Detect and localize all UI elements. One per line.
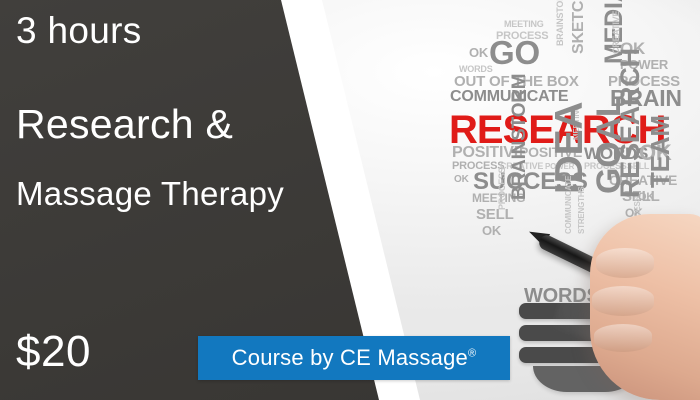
- wordcloud-word: OK: [482, 224, 501, 237]
- course-promo-card: MEETINGPROCESSSKETCHBRAINSTORMMEDIACREAT…: [0, 0, 700, 400]
- provider-banner-label: Course by CE Massage®: [232, 347, 477, 369]
- course-price: $20: [16, 330, 91, 374]
- course-duration: 3 hours: [16, 12, 142, 49]
- wordcloud-word: MEETING: [504, 20, 544, 29]
- wordcloud-word: OK: [469, 46, 488, 59]
- wordcloud-word: STRENGTHS: [578, 186, 586, 234]
- wordcloud-word: OK: [454, 175, 469, 185]
- registered-trademark-icon: ®: [468, 348, 476, 360]
- wordcloud-word: BRAINSTORM: [556, 0, 565, 46]
- wordcloud-word: SELL: [476, 207, 514, 222]
- course-title-line-1: Research &: [16, 104, 233, 145]
- hand-holding-pen-icon: [590, 214, 700, 400]
- wordcloud-word: BRAINSTORM: [510, 74, 529, 200]
- provider-banner-text: Course by CE Massage: [232, 345, 468, 370]
- wordcloud-word: COMMUNICATE: [565, 176, 573, 234]
- wordcloud-word: SKETCH: [571, 0, 587, 54]
- wordcloud-word: OK: [638, 192, 654, 203]
- wordcloud-word: RESEARCH: [617, 48, 644, 198]
- provider-banner[interactable]: Course by CE Massage®: [198, 336, 510, 380]
- wordcloud-word: TEAM: [647, 115, 673, 188]
- wordcloud-word: PROCESS: [498, 167, 507, 210]
- wordcloud-word: GO: [489, 36, 540, 69]
- course-title-line-2: Massage Therapy: [16, 177, 284, 210]
